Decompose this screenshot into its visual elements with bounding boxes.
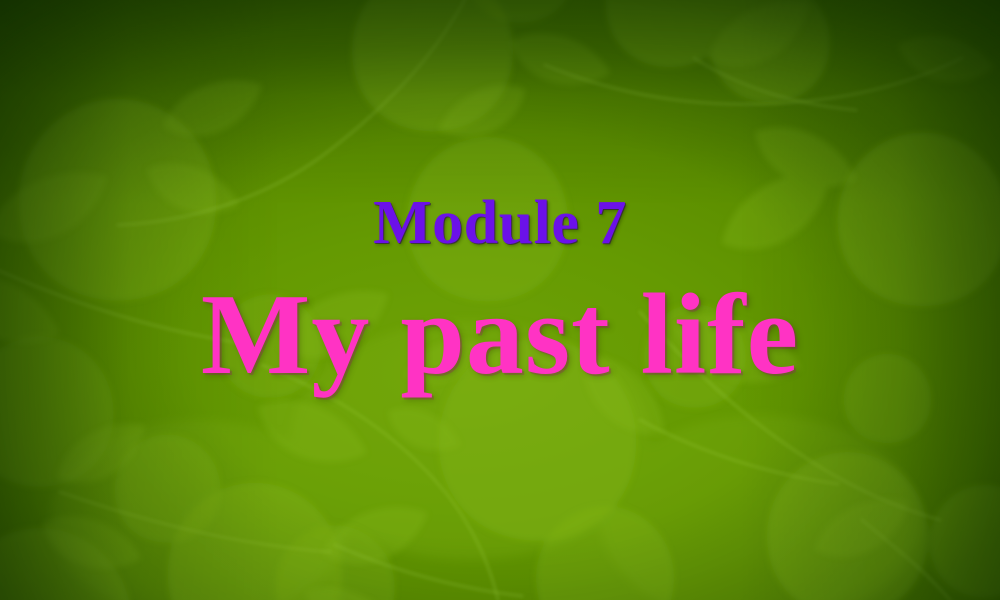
title-slide: Module 7 My past life [0,0,1000,600]
slide-title: My past life [201,277,799,393]
module-label: Module 7 [373,192,627,255]
slide-text-stack: Module 7 My past life [0,0,1000,600]
